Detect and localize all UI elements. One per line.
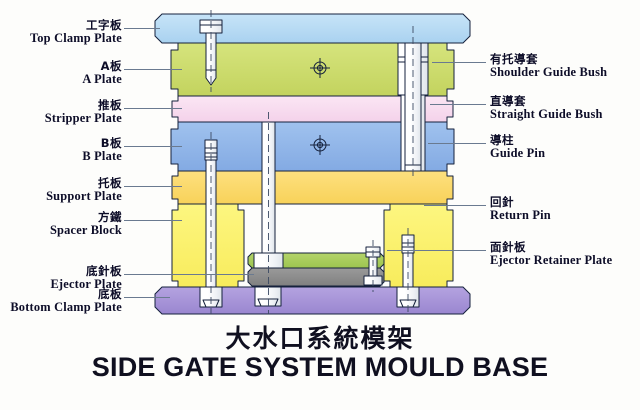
label-support-plate-cn: 托板 [46, 178, 122, 190]
label-ejector-plate-cn: 底針板 [50, 266, 122, 278]
label-spacer-block: 方鐵 Spacer Block [50, 212, 122, 236]
label-a-plate: A板 A Plate [82, 61, 122, 85]
label-ejector-retainer-plate: 面針板 Ejector Retainer Plate [490, 242, 612, 266]
leader-stripper-plate [124, 108, 182, 109]
label-stripper-plate-en: Stripper Plate [45, 112, 122, 125]
label-guide-pin-en: Guide Pin [490, 147, 545, 160]
diagram-page: 工字板 Top Clamp Plate A板 A Plate 推板 Stripp… [0, 0, 640, 410]
label-bottom-clamp-plate: 底板 Bottom Clamp Plate [10, 289, 122, 313]
label-shoulder-guide-bush: 有托導套 Shoulder Guide Bush [490, 54, 607, 78]
label-shoulder-guide-bush-cn: 有托導套 [490, 54, 607, 66]
label-ejector-retainer-plate-cn: 面針板 [490, 242, 612, 254]
leader-spacer-block [124, 220, 182, 221]
label-b-plate-en: B Plate [82, 150, 122, 163]
part-return-pin-shaft-right [403, 253, 413, 287]
label-guide-pin-cn: 導柱 [490, 135, 545, 147]
label-straight-guide-bush-cn: 直導套 [490, 96, 603, 108]
label-shoulder-guide-bush-en: Shoulder Guide Bush [490, 66, 607, 79]
label-ejector-retainer-plate-en: Ejector Retainer Plate [490, 254, 612, 267]
label-a-plate-en: A Plate [82, 73, 122, 86]
leader-b-plate [124, 146, 182, 147]
label-top-clamp-plate-en: Top Clamp Plate [30, 32, 122, 45]
label-spacer-block-en: Spacer Block [50, 224, 122, 237]
label-support-plate: 托板 Support Plate [46, 178, 122, 202]
label-top-clamp-plate: 工字板 Top Clamp Plate [30, 20, 122, 44]
leader-a-plate [124, 69, 182, 70]
label-straight-guide-bush: 直導套 Straight Guide Bush [490, 96, 603, 120]
label-guide-pin: 導柱 Guide Pin [490, 135, 545, 159]
label-bottom-clamp-plate-en: Bottom Clamp Plate [10, 301, 122, 314]
leader-top-clamp-plate [124, 28, 160, 29]
label-return-pin-cn: 回針 [490, 197, 551, 209]
label-support-plate-en: Support Plate [46, 190, 122, 203]
label-bottom-clamp-plate-cn: 底板 [10, 289, 122, 301]
leader-ejector-retainer-plate [387, 250, 486, 251]
label-return-pin-en: Return Pin [490, 209, 551, 222]
leader-guide-pin [428, 143, 486, 144]
title-english: SIDE GATE SYSTEM MOULD BASE [0, 352, 640, 383]
label-spacer-block-cn: 方鐵 [50, 212, 122, 224]
label-b-plate: B板 B Plate [82, 138, 122, 162]
leader-straight-guide-bush [430, 104, 486, 105]
leader-return-pin [424, 205, 486, 206]
label-a-plate-cn: A板 [82, 61, 122, 73]
leader-bottom-clamp-plate [124, 297, 170, 298]
label-top-clamp-plate-cn: 工字板 [30, 20, 122, 32]
label-b-plate-cn: B板 [82, 138, 122, 150]
part-spacer-block-right [384, 204, 453, 287]
leader-ejector-plate [124, 274, 254, 275]
leader-support-plate [124, 186, 182, 187]
label-straight-guide-bush-en: Straight Guide Bush [490, 108, 603, 121]
title-chinese: 大水口系統模架 [0, 319, 640, 355]
label-stripper-plate: 推板 Stripper Plate [45, 100, 122, 124]
label-stripper-plate-cn: 推板 [45, 100, 122, 112]
leader-shoulder-guide-bush [432, 62, 486, 63]
label-return-pin: 回針 Return Pin [490, 197, 551, 221]
